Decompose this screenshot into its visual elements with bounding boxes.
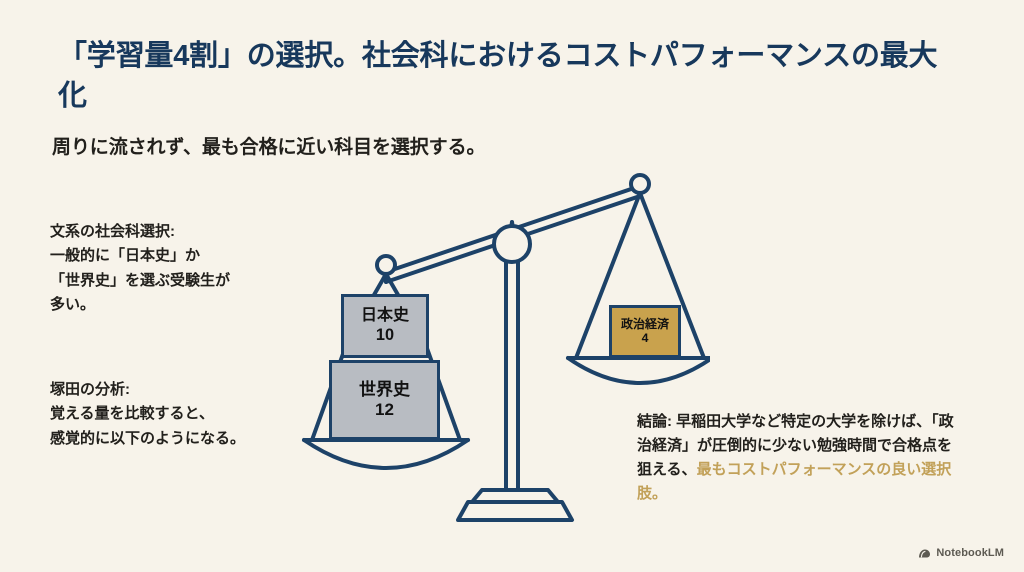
scale-pivot-circle (494, 226, 530, 262)
scale-right-hanger-knob (631, 175, 649, 193)
notebooklm-label: NotebookLM (936, 547, 1004, 559)
page-subtitle: 周りに流されず、最も合格に近い科目を選択する。 (52, 132, 752, 159)
weight-label-sekaishi: 世界史 (359, 380, 410, 400)
weight-value-sekaishi: 12 (375, 400, 394, 420)
weight-block-nihonshi: 日本史 10 (341, 294, 429, 358)
weight-block-sekaishi: 世界史 12 (329, 360, 440, 440)
scale-base-lower (458, 502, 572, 520)
scale-left-pan-bowl (304, 440, 468, 468)
weight-value-seijikeizai: 4 (642, 331, 649, 345)
scale-left-hanger-knob (377, 256, 395, 274)
weight-block-seijikeizai: 政治経済 4 (609, 305, 681, 358)
scale-right-pan-bowl (568, 358, 710, 383)
notebooklm-watermark: NotebookLM (918, 547, 1004, 559)
weight-label-seijikeizai: 政治経済 (621, 317, 669, 331)
notebooklm-logo-icon (918, 548, 931, 559)
slide-canvas: 「学習量4割」の選択。社会科におけるコストパフォーマンスの最大化 周りに流されず… (0, 0, 1024, 572)
weight-value-nihonshi: 10 (376, 326, 394, 345)
weight-label-nihonshi: 日本史 (361, 307, 409, 326)
note-humanities-social-studies-choice: 文系の社会科選択: 一般的に「日本史」か 「世界史」を選ぶ受験生が 多い。 (50, 220, 320, 317)
page-title: 「学習量4割」の選択。社会科におけるコストパフォーマンスの最大化 (58, 36, 958, 116)
